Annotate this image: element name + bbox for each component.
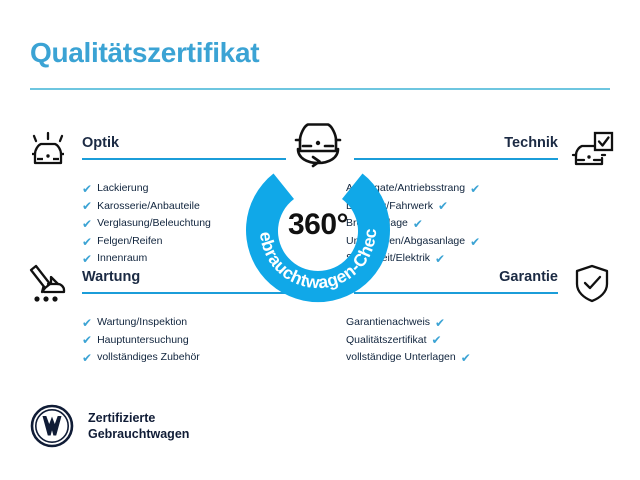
footer-text: Zertifizierte Gebrauchtwagen: [88, 410, 189, 442]
check-icon: ✔: [82, 352, 92, 364]
page-title: Qualitätszertifikat: [30, 36, 259, 70]
footer-line-1: Zertifizierte: [88, 410, 189, 426]
check-icon: ✔: [82, 317, 92, 329]
check-icon: ✔: [82, 236, 92, 248]
section-garantie-list: ✔ Garantienachweis ✔ Qualitätszertifikat…: [346, 314, 616, 367]
check-icon: ✔: [435, 317, 445, 329]
check-icon: ✔: [432, 334, 442, 346]
certificate-page: Qualitätszertifikat Optik: [0, 0, 640, 480]
footer-line-2: Gebrauchtwagen: [88, 426, 189, 442]
list-item-label: Garantienachweis: [346, 314, 430, 332]
footer-brand: Zertifizierte Gebrauchtwagen: [30, 404, 189, 448]
car-rotation-icon: [286, 116, 350, 168]
list-item: ✔ Qualitätszertifikat: [346, 332, 558, 350]
list-item-label: Lackierung: [97, 180, 148, 198]
list-item: ✔ Garantienachweis: [346, 314, 558, 332]
list-item-label: vollständiges Zubehör: [97, 349, 200, 367]
car-service-pen-icon: [24, 262, 72, 306]
vw-logo: [30, 404, 74, 448]
list-item: ✔ Wartung/Inspektion: [82, 314, 294, 332]
car-checkbox-icon: [568, 128, 616, 172]
section-wartung-list: ✔ Wartung/Inspektion ✔ Hauptuntersuchung…: [24, 314, 294, 367]
check-icon: ✔: [470, 183, 480, 195]
car-shine-icon: [24, 128, 72, 172]
shield-check-icon: [568, 262, 616, 306]
list-item: ✔ Hauptuntersuchung: [82, 332, 294, 350]
list-item-label: Karosserie/Anbauteile: [97, 198, 200, 216]
check-icon: ✔: [438, 200, 448, 212]
list-item-label: Felgen/Reifen: [97, 233, 162, 251]
check-icon: ✔: [82, 218, 92, 230]
badge-center-label: 360°: [236, 208, 400, 242]
list-item-label: Wartung/Inspektion: [97, 314, 187, 332]
check-icon: ✔: [470, 236, 480, 248]
list-item-label: Verglasung/Beleuchtung: [97, 215, 211, 233]
title-divider: [30, 88, 610, 90]
check-icon: ✔: [82, 334, 92, 346]
list-item-label: vollständige Unterlagen: [346, 349, 456, 367]
list-item-label: Qualitätszertifikat: [346, 332, 427, 350]
check-icon: ✔: [82, 183, 92, 195]
list-item: ✔ vollständige Unterlagen: [346, 349, 558, 367]
check-icon: ✔: [82, 200, 92, 212]
check-icon: ✔: [413, 218, 423, 230]
list-item: ✔ vollständiges Zubehör: [82, 349, 294, 367]
check-icon: ✔: [461, 352, 471, 364]
list-item-label: Hauptuntersuchung: [97, 332, 189, 350]
badge-360-check: Gebrauchtwagen-Check 360°: [236, 148, 400, 312]
